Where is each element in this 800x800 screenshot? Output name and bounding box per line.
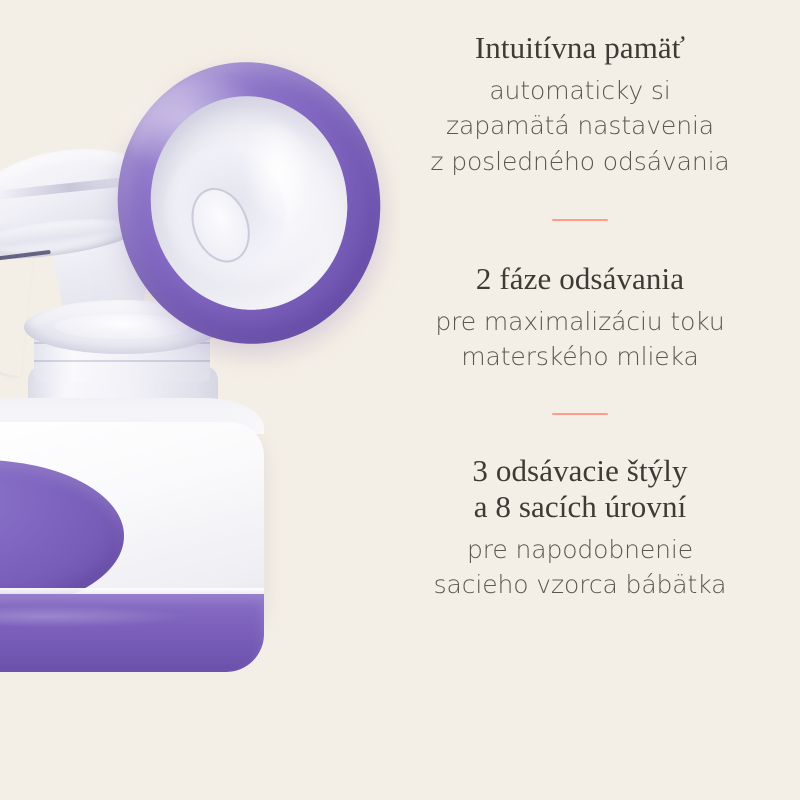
feature-1-body-line-2: zapamätá nastavenia [446,111,714,140]
feature-block-2: 2 fáze odsávania pre maximalizáciu toku … [360,261,800,375]
feature-3-heading: 3 odsávacie štýly a 8 sacích úrovní [360,453,800,526]
breast-shield-flange [98,43,400,363]
feature-2-body-line-1: pre maximalizáciu toku [435,307,724,336]
divider-1 [552,219,608,221]
feature-3-body-line-2: sacieho vzorca bábätka [434,570,727,599]
promo-banner: nch. In [0,0,800,800]
feature-3-heading-line-2: a 8 sacích úrovní [474,489,687,524]
feature-2-body: pre maximalizáciu toku materského mlieka [360,304,800,375]
feature-1-heading: Intuitívna pamäť [360,30,800,67]
feature-list: Intuitívna pamäť automaticky si zapamätá… [360,0,800,800]
feature-block-3: 3 odsávacie štýly a 8 sacích úrovní pre … [360,453,800,603]
feature-1-body: automaticky si zapamätá nastavenia z pos… [360,73,800,180]
feature-3-body-line-1: pre napodobnenie [467,535,693,564]
feature-3-body: pre napodobnenie sacieho vzorca bábätka [360,532,800,603]
feature-2-body-line-2: materského mlieka [461,342,699,371]
base-purple-foot [0,594,264,672]
feature-2-heading: 2 fáze odsávania [360,261,800,298]
feature-block-1: Intuitívna pamäť automaticky si zapamätá… [360,30,800,179]
divider-2 [552,413,608,415]
pump-motor-base: nch. [0,398,264,678]
feature-3-heading-line-1: 3 odsávacie štýly [472,453,687,488]
product-image-breast-pump: nch. [0,0,400,800]
feature-1-body-line-3: z posledného odsávania [430,147,729,176]
feature-1-body-line-1: automaticky si [489,76,670,105]
